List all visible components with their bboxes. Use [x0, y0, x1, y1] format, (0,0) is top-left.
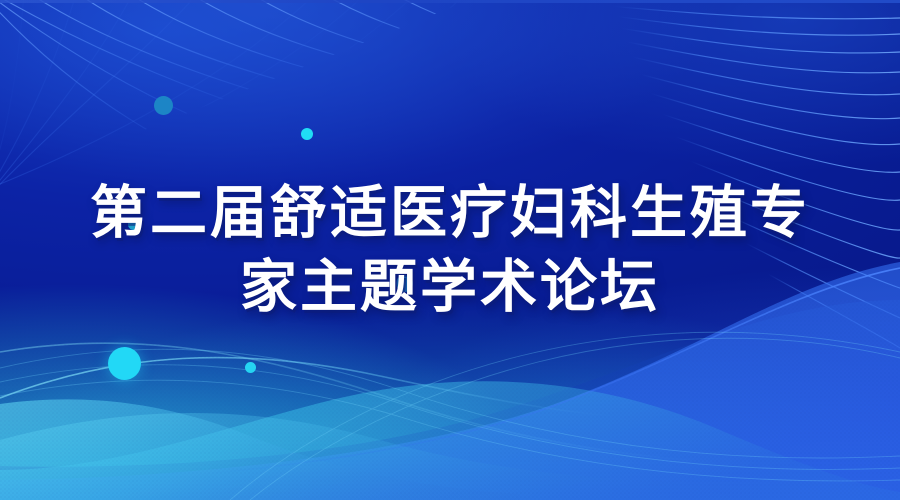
decor-dot-cyan-lower: [245, 362, 256, 373]
decor-dot-teal-upper: [154, 96, 173, 115]
decor-dot-cyan-top: [301, 128, 313, 140]
banner-title: 第二届舒适医疗妇科生殖专 家主题学术论坛: [0, 176, 900, 324]
banner-canvas: 第二届舒适医疗妇科生殖专 家主题学术论坛: [0, 0, 900, 500]
banner-title-line-2: 家主题学术论坛: [0, 250, 900, 324]
top-edge-hairline: [0, 0, 900, 3]
decor-dot-large-cyan: [108, 347, 141, 380]
banner-title-line-1: 第二届舒适医疗妇科生殖专: [0, 176, 900, 250]
